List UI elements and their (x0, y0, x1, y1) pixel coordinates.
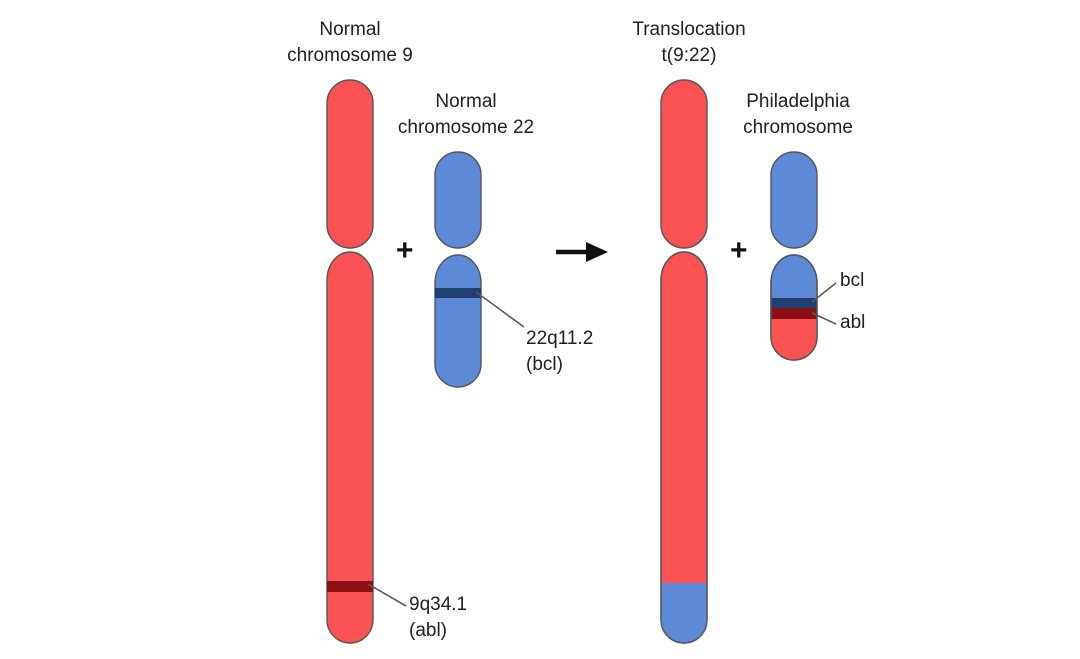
philadelphia-band-abl (770, 308, 818, 319)
philadelphia-short-arm (771, 152, 817, 248)
label-normal-chromosome-22: Normal chromosome 22 (368, 89, 564, 141)
chromosome-22-band-bcl (434, 288, 482, 298)
normal-chromosome-9 (326, 80, 406, 643)
plus-sign-right: + (730, 236, 748, 266)
chromosome-9-band-abl (326, 581, 374, 592)
diagram-canvas: Normal chromosome 9 Normal chromosome 22… (0, 0, 1080, 659)
chromosome-9-short-arm (327, 80, 373, 248)
chromosome-22-long-arm (435, 255, 481, 387)
annotation-9q34-abl: 9q34.1 (abl) (409, 592, 559, 644)
philadelphia-band-bcl (770, 298, 818, 308)
label-philadelphia-chromosome: Philadelphia chromosome (703, 89, 893, 141)
annotation-22q11-bcl: 22q11.2 (bcl) (526, 326, 676, 378)
normal-chromosome-22 (434, 152, 524, 387)
annotation-bcl-right: bcl (840, 268, 864, 294)
plus-sign-left: + (396, 236, 414, 266)
translocation-9-short-arm (661, 80, 707, 248)
chromosome-22-short-arm (435, 152, 481, 248)
transition-arrow-icon (556, 242, 608, 262)
label-translocation-t922: Translocation t(9:22) (594, 17, 784, 69)
leader-line-bcl-left (476, 292, 524, 327)
label-normal-chromosome-9: Normal chromosome 9 (255, 17, 445, 69)
annotation-abl-right: abl (840, 310, 865, 336)
philadelphia-red-segment (770, 319, 818, 365)
philadelphia-chromosome (770, 152, 836, 365)
